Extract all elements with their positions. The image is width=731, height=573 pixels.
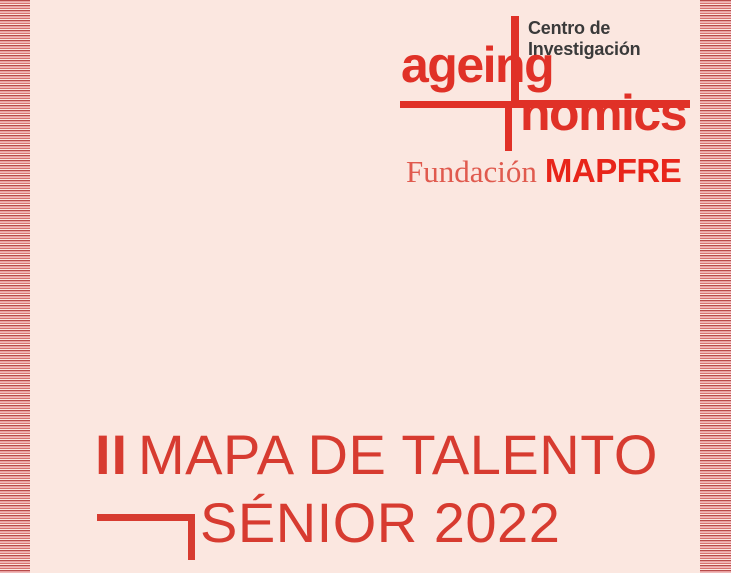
foundation-lockup: FundaciónMAPFRE bbox=[406, 152, 681, 190]
report-title-line-2: SÉNIOR 2022 bbox=[95, 492, 635, 560]
cover-page: Centro de Investigación ageing nomics Fu… bbox=[0, 0, 731, 573]
report-title: II MAPA DE TALENTO SÉNIOR 2022 bbox=[95, 424, 635, 560]
title-bracket-vertical-icon bbox=[188, 514, 195, 560]
bracket-horizontal-lower-icon bbox=[400, 101, 512, 108]
striped-band-left bbox=[0, 0, 30, 573]
foundation-brand: MAPFRE bbox=[545, 152, 681, 189]
ageingnomics-mapfre-logo: Centro de Investigación ageing nomics Fu… bbox=[398, 8, 690, 190]
report-title-line-1: II MAPA DE TALENTO bbox=[95, 424, 635, 492]
bracket-vertical-lower-icon bbox=[505, 101, 512, 151]
title-bracket-horizontal-icon bbox=[97, 514, 195, 521]
foundation-word: Fundación bbox=[406, 154, 537, 189]
research-center-line-1: Centro de bbox=[528, 18, 640, 39]
report-edition-numeral: II bbox=[95, 424, 128, 487]
logo-word-ageing: ageing bbox=[401, 40, 553, 90]
logo-word-nomics: nomics bbox=[520, 88, 686, 138]
striped-band-right bbox=[700, 0, 731, 573]
report-title-text-2: SÉNIOR 2022 bbox=[200, 492, 560, 555]
report-title-text-1: MAPA DE TALENTO bbox=[138, 424, 658, 487]
